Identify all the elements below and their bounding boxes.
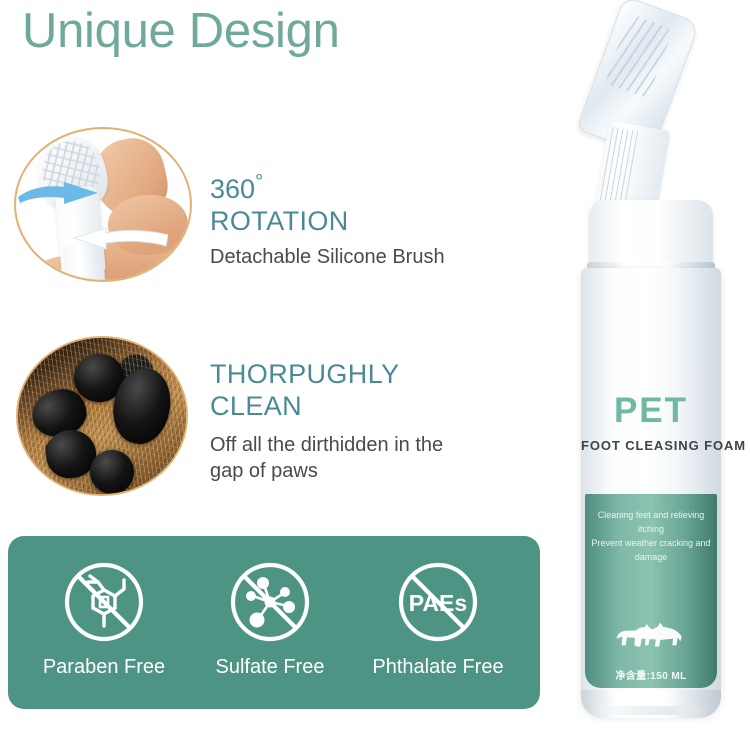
feature-kicker: 360° — [210, 167, 530, 205]
feature-heading: ROTATION — [210, 205, 530, 237]
feature-subtitle: Detachable Silicone Brush — [210, 244, 530, 270]
no-sulfate-icon — [226, 558, 314, 646]
rotation-degrees-value: 360 — [210, 174, 255, 204]
feature-row-clean: THORPUGHLY CLEAN Off all the dirthidden … — [16, 336, 536, 508]
claim-label: Sulfate Free — [190, 655, 350, 679]
bottle-base — [581, 690, 721, 718]
feature-heading-line1: THORPUGHLY — [210, 358, 540, 390]
product-infographic: Unique Design 360° ROTATION — [0, 0, 750, 730]
claim-label: Paraben Free — [24, 655, 184, 679]
dog-and-cat-silhouette-icon — [585, 618, 717, 655]
bottle-pump-collar — [589, 200, 713, 268]
feature-heading-line2: CLEAN — [210, 390, 540, 422]
label-benefit-line2: Prevent weather cracking and damage — [585, 536, 717, 564]
white-arrow-icon — [72, 227, 168, 251]
hand-holding-silicone-brush-photo — [14, 127, 192, 282]
bottle-label-band: Cleaning feet and relieving itching Prev… — [585, 494, 717, 688]
product-bottle-image: PET FOOT CLEASING FOAM Cleaning feet and… — [555, 0, 750, 730]
claim-label: Phthalate Free — [358, 655, 518, 679]
claim-phthalate-free: PAEs Phthalate Free — [358, 558, 518, 679]
degree-symbol: ° — [255, 171, 263, 193]
feature-subtitle-line2: gap of paws — [210, 458, 540, 484]
feature-subtitle-line1: Off all the dirthidden in the — [210, 432, 540, 458]
claim-sulfate-free: Sulfate Free — [190, 558, 350, 679]
label-benefit-lines: Cleaning feet and relieving itching Prev… — [585, 508, 717, 564]
no-phthalate-icon: PAEs — [394, 558, 482, 646]
label-benefit-line1: Cleaning feet and relieving itching — [585, 508, 717, 536]
dog-paw-closeup-photo — [16, 336, 188, 496]
net-volume: 净含量:150 ML — [585, 670, 717, 683]
no-paraben-icon — [60, 558, 148, 646]
claim-paraben-free: Paraben Free — [24, 558, 184, 679]
free-from-claims-panel: Paraben Free Sulfate — [8, 536, 540, 709]
page-title: Unique Design — [22, 2, 340, 60]
brand-subtitle: FOOT CLEASING FOAM — [581, 438, 721, 454]
blue-arrow-icon — [18, 181, 102, 207]
feature-row-rotation: 360° ROTATION Detachable Silicone Brush — [14, 127, 534, 297]
brand-name: PET — [581, 392, 721, 430]
bottle-body: PET FOOT CLEASING FOAM Cleaning feet and… — [581, 268, 721, 716]
